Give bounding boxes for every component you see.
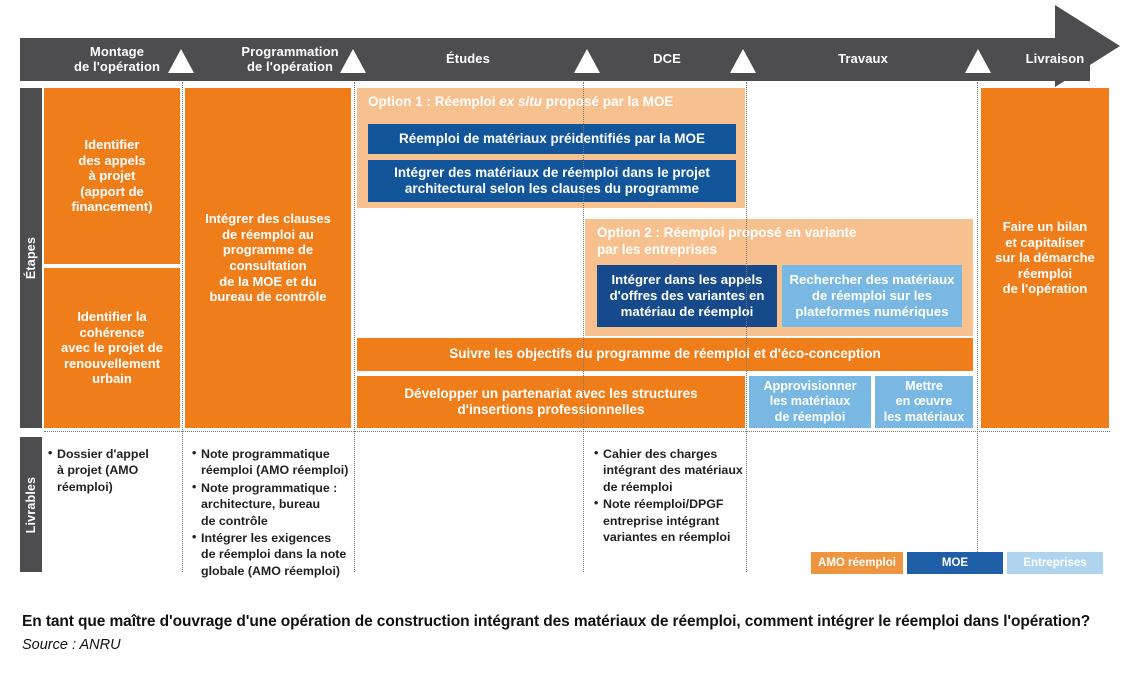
infographic-root: Montage de l'opération Programmation de …	[0, 0, 1138, 697]
list-item: Cahier des charges intégrant des matéria…	[594, 446, 754, 495]
timeline-phase-travaux[interactable]: Travaux	[770, 38, 956, 81]
legend-item-amo-reemploi[interactable]: AMO réemploi	[811, 552, 903, 574]
option1-title: Option 1 : Réemploi ex situ proposé par …	[368, 94, 740, 111]
row-label-livrables: Livrables	[20, 437, 42, 572]
option1-title-italic: ex situ	[499, 94, 542, 109]
livrables-list: Cahier des charges intégrant des matéria…	[594, 446, 754, 545]
timeline-phase-label: Travaux	[838, 52, 888, 67]
list-item: Note réemploi/DPGF entreprise intégrant …	[594, 496, 754, 545]
list-item: Intégrer les exigences de réemploi dans …	[192, 530, 352, 579]
timeline-milestone-marker-2	[340, 49, 366, 73]
livrables-dce: Cahier des charges intégrant des matéria…	[594, 446, 754, 546]
option1-title-prefix: Option 1 : Réemploi	[368, 94, 499, 109]
row-label-livrables-text: Livrables	[24, 476, 38, 533]
etape-block-approvisionner[interactable]: Approvisionner les matériaux de réemploi	[749, 376, 871, 428]
timeline-phase-label: Livraison	[1026, 52, 1085, 67]
livrables-list: Note programmatique réemploi (AMO réempl…	[192, 446, 352, 579]
livrables-programmation: Note programmatique réemploi (AMO réempl…	[192, 446, 352, 580]
legend-item-moe[interactable]: MOE	[907, 552, 1003, 574]
timeline-phase-etudes[interactable]: Études	[382, 38, 554, 81]
option2-item-rechercher-plateformes[interactable]: Rechercher des matériaux de réemploi sur…	[782, 265, 962, 327]
column-divider-5	[977, 82, 978, 572]
timeline-phase-label: Études	[446, 52, 490, 67]
timeline-phase-dce[interactable]: DCE	[612, 38, 722, 81]
timeline-phase-livraison[interactable]: Livraison	[1000, 38, 1110, 81]
caption: En tant que maître d'ouvrage d'une opéra…	[22, 612, 1122, 653]
row-label-etapes: Étapes	[20, 88, 42, 428]
option1-item-integrer-materiaux[interactable]: Intégrer des matériaux de réemploi dans …	[368, 160, 736, 202]
column-divider-2	[354, 82, 355, 572]
timeline-milestone-marker-3	[574, 49, 600, 73]
list-item: Note programmatique : architecture, bure…	[192, 480, 352, 529]
row-divider-etapes-livrables	[44, 431, 1110, 432]
etape-block-identifier-coherence[interactable]: Identifier la cohérence avec le projet d…	[44, 268, 180, 428]
timeline-phase-label: DCE	[653, 52, 681, 67]
column-divider-3	[583, 82, 584, 572]
etape-block-faire-bilan[interactable]: Faire un bilan et capitaliser sur la dém…	[981, 88, 1109, 428]
option1-title-suffix: proposé par la MOE	[542, 94, 673, 109]
legend-label: MOE	[942, 557, 968, 569]
timeline-milestone-marker-4	[730, 49, 756, 73]
etape-block-mettre-en-oeuvre[interactable]: Mettre en œuvre les matériaux	[875, 376, 973, 428]
list-item: Note programmatique réemploi (AMO réempl…	[192, 446, 352, 479]
etape-block-developper-partenariat[interactable]: Développer un partenariat avec les struc…	[357, 376, 745, 428]
option1-item-reemploi-preidentifies[interactable]: Réemploi de matériaux préidentifiés par …	[368, 124, 736, 154]
etape-block-integrer-clauses[interactable]: Intégrer des clauses de réemploi au prog…	[185, 88, 351, 428]
etape-block-suivre-objectifs[interactable]: Suivre les objectifs du programme de rée…	[357, 338, 973, 371]
row-label-etapes-text: Étapes	[24, 237, 38, 279]
timeline-milestone-marker-5	[965, 49, 991, 73]
option2-item-integrer-appels-offres[interactable]: Intégrer dans les appels d'offres des va…	[597, 265, 777, 327]
legend: AMO réemploi MOE Entreprises	[811, 552, 1103, 574]
legend-label: AMO réemploi	[818, 557, 896, 569]
list-item: Dossier d'appel à projet (AMO réemploi)	[48, 446, 178, 495]
option2-title: Option 2 : Réemploi proposé en variante …	[597, 225, 967, 259]
timeline-milestone-marker-1	[168, 49, 194, 73]
timeline-phase-label: Programmation de l'opération	[241, 45, 338, 75]
etape-block-identifier-appels[interactable]: Identifier des appels à projet (apport d…	[44, 88, 180, 264]
legend-label: Entreprises	[1023, 557, 1086, 569]
livrables-montage: Dossier d'appel à projet (AMO réemploi)	[48, 446, 178, 496]
column-divider-1	[182, 82, 183, 572]
livrables-list: Dossier d'appel à projet (AMO réemploi)	[48, 446, 178, 495]
timeline-phase-label: Montage de l'opération	[74, 45, 160, 75]
legend-item-entreprises[interactable]: Entreprises	[1007, 552, 1103, 574]
caption-source: Source : ANRU	[22, 637, 1122, 653]
caption-question: En tant que maître d'ouvrage d'une opéra…	[22, 612, 1122, 633]
